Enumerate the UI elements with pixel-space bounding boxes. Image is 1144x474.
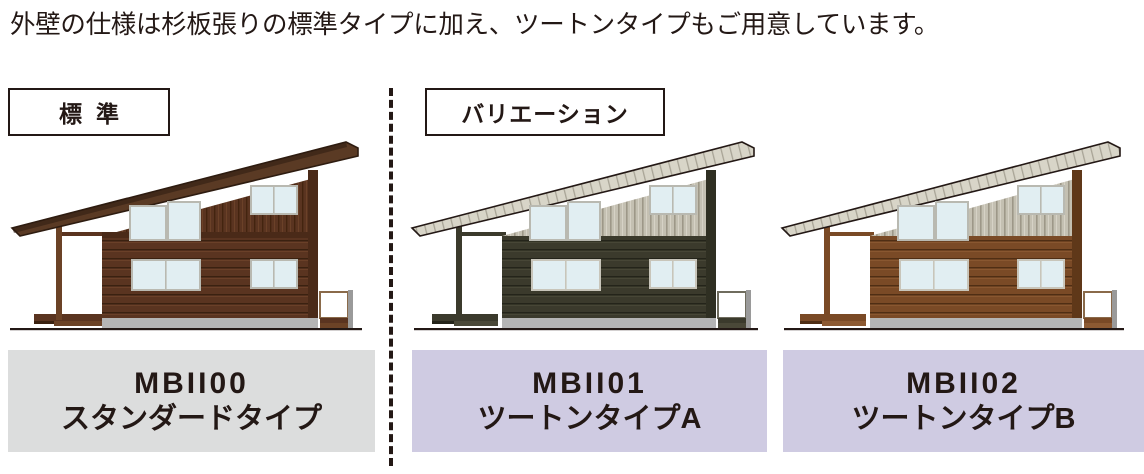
foundation-3 [870,318,1082,328]
lower-window-left-1 [132,260,200,290]
model-code-1: MBII00 [134,367,249,401]
label-box-variation-text: バリエーション [461,95,629,129]
entry-rail-1 [320,292,348,318]
section-divider [389,88,393,466]
entry-step-a-2 [718,318,746,323]
model-name-3: ツートンタイプB [852,403,1076,435]
house-illustration-mbii00 [6,132,378,342]
right-end-wall-3 [1072,170,1082,318]
carport-beam [62,232,106,236]
right-end-wall-2 [706,170,716,318]
entry-step-b-3 [1084,323,1112,328]
lower-window-left-3 [900,260,968,290]
carport-deck [800,314,866,321]
caption-plate-mbii01: MBII01 ツートンタイプA [412,350,767,452]
ground-line [414,328,758,330]
carport-post [824,220,830,320]
entry-step-b-2 [718,323,746,328]
carport-beam [830,232,874,236]
house-elevation-svg-1 [6,132,378,342]
house-elevation-svg-3 [780,132,1138,342]
exterior-wall-variation-panel: 外壁の仕様は杉板張りの標準タイプに加え、ツートンタイプもご用意しています。 標準… [0,0,1144,474]
carport-post [456,220,462,320]
label-box-standard-text: 標準 [45,95,133,129]
entry-post-2 [746,290,751,328]
carport-deck [34,314,102,321]
caption-plate-mbii00: MBII00 スタンダードタイプ [8,350,375,452]
carport-step [454,321,498,326]
entry-post-3 [1112,290,1117,328]
model-name-1: スタンダードタイプ [61,403,322,435]
lower-window-right-1 [251,260,297,288]
lower-window-right-2 [650,260,696,288]
upper-window-left-1 [130,206,166,240]
carport-step [822,321,866,326]
entry-step-b-1 [320,323,348,328]
upper-window-right-3 [1018,186,1064,214]
right-end-wall-1 [308,170,318,318]
upper-window-left-2 [530,206,566,240]
foundation-1 [102,318,318,328]
model-code-2: MBII01 [532,367,647,401]
upper-window-right-2 [650,186,696,214]
carport-step [54,321,102,326]
caption-plate-mbii02: MBII02 ツートンタイプB [783,350,1144,452]
house-illustration-mbii01 [410,132,772,342]
entry-rail-2 [718,292,746,318]
ground-line [10,328,362,330]
foundation-2 [502,318,716,328]
entry-rail-3 [1084,292,1112,318]
entry-post-1 [348,290,353,328]
entry-step-a-1 [320,318,348,323]
lower-window-right-3 [1018,260,1064,288]
carport-deck [432,314,498,321]
entry-step-a-3 [1084,318,1112,323]
house-elevation-svg-2 [410,132,772,342]
carport-beam [462,232,506,236]
house-illustration-mbii02 [780,132,1138,342]
model-code-3: MBII02 [906,367,1021,401]
ground-line [784,328,1124,330]
model-name-2: ツートンタイプA [478,403,702,435]
carport-post [56,220,62,320]
label-box-variation: バリエーション [425,88,665,136]
upper-window-center-1 [168,202,200,240]
upper-window-left-3 [898,206,934,240]
upper-window-right-1 [251,186,297,214]
lower-window-left-2 [532,260,600,290]
upper-window-center-3 [936,202,968,240]
page-headline: 外壁の仕様は杉板張りの標準タイプに加え、ツートンタイプもご用意しています。 [10,10,1140,41]
upper-window-center-2 [568,202,600,240]
label-box-standard: 標準 [8,88,170,136]
